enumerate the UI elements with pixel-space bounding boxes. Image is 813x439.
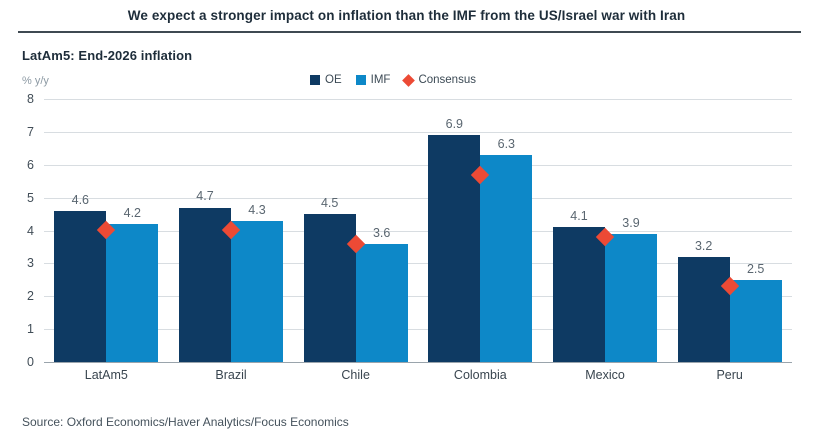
data-label-oe: 4.1 <box>570 209 587 223</box>
y-axis-tick-label: 4 <box>27 224 34 238</box>
x-axis-tick-label: Brazil <box>215 368 246 382</box>
data-label-oe: 3.2 <box>695 239 712 253</box>
bar-oe[interactable] <box>428 135 480 362</box>
y-axis-tick-label: 0 <box>27 355 34 369</box>
y-axis-unit-label: % y/y <box>22 75 49 87</box>
data-label-imf: 3.6 <box>373 226 390 240</box>
chart-legend: OE IMF Consensus <box>310 74 476 86</box>
bar-group: 4.13.9 <box>543 99 668 362</box>
data-label-imf: 2.5 <box>747 262 764 276</box>
y-axis-tick-label: 3 <box>27 256 34 270</box>
data-label-oe: 6.9 <box>446 117 463 131</box>
x-axis-tick-label: LatAm5 <box>85 368 128 382</box>
x-axis-tick-label: Chile <box>341 368 370 382</box>
x-axis-labels: LatAm5BrazilChileColombiaMexicoPeru <box>44 368 792 390</box>
bar-oe[interactable] <box>553 227 605 362</box>
bar-groups: 4.64.24.74.34.53.66.96.34.13.93.22.5 <box>44 99 792 362</box>
y-axis-tick-label: 8 <box>27 92 34 106</box>
bar-group: 4.64.2 <box>44 99 169 362</box>
legend-label-imf: IMF <box>371 74 391 86</box>
plot-area: 4.64.24.74.34.53.66.96.34.13.93.22.5 <box>44 99 792 362</box>
y-axis-tick-label: 6 <box>27 158 34 172</box>
bar-group: 3.22.5 <box>667 99 792 362</box>
data-label-imf: 4.3 <box>248 203 265 217</box>
legend-swatch-oe-icon <box>310 75 320 85</box>
data-label-oe: 4.6 <box>72 193 89 207</box>
bar-group: 6.96.3 <box>418 99 543 362</box>
y-axis-labels: 012345678 <box>0 99 44 362</box>
y-axis-tick-label: 2 <box>27 289 34 303</box>
data-label-imf: 6.3 <box>498 137 515 151</box>
chart-title: LatAm5: End-2026 inflation <box>22 48 192 63</box>
bar-oe[interactable] <box>54 211 106 362</box>
bar-imf[interactable] <box>730 280 782 362</box>
y-axis-tick-label: 1 <box>27 322 34 336</box>
bar-imf[interactable] <box>106 224 158 362</box>
bar-imf[interactable] <box>605 234 657 362</box>
bar-oe[interactable] <box>304 214 356 362</box>
x-axis-tick-label: Colombia <box>454 368 507 382</box>
gridline <box>44 362 792 363</box>
bar-group: 4.53.6 <box>293 99 418 362</box>
bar-group: 4.74.3 <box>169 99 294 362</box>
legend-label-consensus: Consensus <box>418 74 476 86</box>
legend-item-oe: OE <box>310 74 342 86</box>
legend-swatch-imf-icon <box>356 75 366 85</box>
data-label-oe: 4.7 <box>196 189 213 203</box>
bar-oe[interactable] <box>678 257 730 362</box>
bar-imf[interactable] <box>480 155 532 362</box>
legend-item-consensus: Consensus <box>404 74 476 86</box>
header-divider <box>18 31 801 33</box>
y-axis-tick-label: 5 <box>27 191 34 205</box>
x-axis-tick-label: Mexico <box>585 368 625 382</box>
data-label-oe: 4.5 <box>321 196 338 210</box>
bar-imf[interactable] <box>231 221 283 362</box>
legend-diamond-consensus-icon <box>403 74 416 87</box>
data-label-imf: 3.9 <box>622 216 639 230</box>
legend-label-oe: OE <box>325 74 342 86</box>
bar-imf[interactable] <box>356 244 408 362</box>
source-note: Source: Oxford Economics/Haver Analytics… <box>22 415 349 429</box>
page-title: We expect a stronger impact on inflation… <box>0 8 813 23</box>
x-axis-tick-label: Peru <box>716 368 742 382</box>
data-label-imf: 4.2 <box>124 206 141 220</box>
y-axis-tick-label: 7 <box>27 125 34 139</box>
chart-page: We expect a stronger impact on inflation… <box>0 0 813 439</box>
legend-item-imf: IMF <box>356 74 391 86</box>
